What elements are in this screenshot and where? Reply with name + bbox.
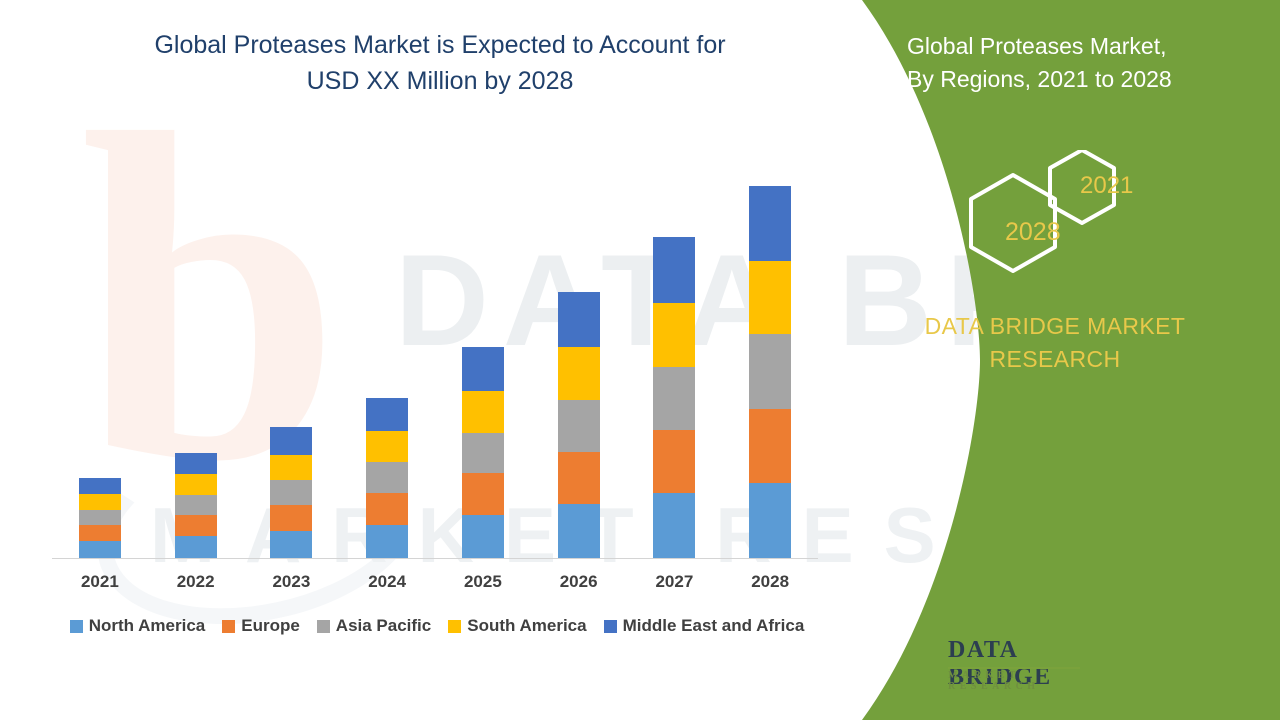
x-axis-label: 2024 xyxy=(340,572,435,592)
bar-column xyxy=(52,140,147,558)
x-axis-label: 2025 xyxy=(435,572,530,592)
bar-column xyxy=(148,140,243,558)
stacked-bar xyxy=(270,427,312,558)
bar-column xyxy=(340,140,435,558)
panel-title: Global Proteases Market, By Regions, 202… xyxy=(907,30,1247,95)
bar-segment xyxy=(270,427,312,455)
bar-segment xyxy=(270,455,312,481)
bar-segment xyxy=(175,536,217,558)
logo-divider xyxy=(948,667,1080,669)
bar-segment xyxy=(653,493,695,558)
legend-label: South America xyxy=(467,616,586,636)
stacked-bar xyxy=(462,347,504,558)
panel-brand-line2: RESEARCH xyxy=(875,343,1235,376)
hexagon-label-2021: 2021 xyxy=(1080,172,1133,200)
legend-swatch-icon xyxy=(604,620,617,633)
x-axis-label: 2021 xyxy=(52,572,147,592)
bar-segment xyxy=(270,531,312,558)
stacked-bar xyxy=(749,186,791,558)
bar-column xyxy=(244,140,339,558)
legend-item[interactable]: North America xyxy=(70,616,206,636)
bar-segment xyxy=(270,480,312,505)
bar-segment xyxy=(79,525,121,541)
bar-segment xyxy=(79,510,121,525)
hexagon-label-2028: 2028 xyxy=(1005,218,1061,247)
x-axis-label: 2027 xyxy=(627,572,722,592)
bar-segment xyxy=(749,261,791,334)
bar-segment xyxy=(175,453,217,475)
legend-item[interactable]: South America xyxy=(448,616,586,636)
stacked-bar xyxy=(366,398,408,558)
legend-label: Asia Pacific xyxy=(336,616,431,636)
panel-title-line1: Global Proteases Market, xyxy=(907,30,1247,63)
bar-segment xyxy=(653,367,695,430)
panel-brand-line1: DATA BRIDGE MARKET xyxy=(875,310,1235,343)
bar-segment xyxy=(79,494,121,510)
panel-title-line2: By Regions, 2021 to 2028 xyxy=(907,63,1247,96)
bar-segment xyxy=(462,433,504,474)
x-axis-label: 2028 xyxy=(723,572,818,592)
legend-item[interactable]: Middle East and Africa xyxy=(604,616,805,636)
bar-segment xyxy=(175,495,217,515)
x-axis-label: 2023 xyxy=(244,572,339,592)
legend-label: Middle East and Africa xyxy=(623,616,805,636)
company-logo: DATA BRIDGE MARKET RESEARCH xyxy=(848,625,1098,707)
chart-legend: North AmericaEuropeAsia PacificSouth Ame… xyxy=(52,616,822,636)
bar-segment xyxy=(462,515,504,558)
bar-segment xyxy=(653,303,695,367)
bar-column xyxy=(435,140,530,558)
legend-swatch-icon xyxy=(70,620,83,633)
bar-column xyxy=(531,140,626,558)
bar-segment xyxy=(558,347,600,400)
bar-segment xyxy=(462,473,504,515)
bar-segment xyxy=(366,398,408,431)
legend-swatch-icon xyxy=(448,620,461,633)
right-green-panel: Global Proteases Market, By Regions, 202… xyxy=(830,0,1280,720)
chart-plot-area: 20212022202320242025202620272028 xyxy=(0,0,840,600)
bar-segment xyxy=(366,462,408,493)
bar-segment xyxy=(366,431,408,463)
bar-segment xyxy=(79,541,121,558)
x-axis-label: 2022 xyxy=(148,572,243,592)
legend-label: North America xyxy=(89,616,206,636)
bar-segment xyxy=(175,515,217,536)
bar-segment xyxy=(558,504,600,558)
legend-swatch-icon xyxy=(317,620,330,633)
bar-segment xyxy=(175,474,217,495)
bar-segment xyxy=(366,525,408,558)
stacked-bar xyxy=(79,478,121,558)
stacked-bar xyxy=(175,453,217,558)
bar-segment xyxy=(749,409,791,484)
bar-segment xyxy=(270,505,312,531)
bar-column xyxy=(627,140,722,558)
x-axis-tick-labels: 20212022202320242025202620272028 xyxy=(52,572,818,592)
legend-item[interactable]: Europe xyxy=(222,616,300,636)
legend-label: Europe xyxy=(241,616,300,636)
slide-canvas: b DATA BRIDGE MARKET RESEARCH Global Pro… xyxy=(0,0,1280,720)
bar-segment xyxy=(558,400,600,452)
legend-swatch-icon xyxy=(222,620,235,633)
bar-segment xyxy=(79,478,121,494)
bar-segment xyxy=(749,483,791,558)
bar-segment xyxy=(653,237,695,304)
panel-brand-name: DATA BRIDGE MARKET RESEARCH xyxy=(875,310,1235,377)
bar-segment xyxy=(558,452,600,505)
stacked-bar xyxy=(653,237,695,558)
bar-segment xyxy=(462,347,504,391)
stacked-bar xyxy=(558,292,600,558)
bar-segment xyxy=(558,292,600,347)
bar-segment xyxy=(366,493,408,525)
x-axis-label: 2026 xyxy=(531,572,626,592)
bar-column xyxy=(723,140,818,558)
bar-segment xyxy=(653,430,695,494)
bar-group xyxy=(52,140,818,558)
bar-segment xyxy=(749,334,791,409)
x-axis-line xyxy=(52,558,818,559)
logo-subtitle: MARKET RESEARCH xyxy=(948,670,1098,692)
bar-segment xyxy=(462,391,504,433)
legend-item[interactable]: Asia Pacific xyxy=(317,616,431,636)
bar-segment xyxy=(749,186,791,262)
